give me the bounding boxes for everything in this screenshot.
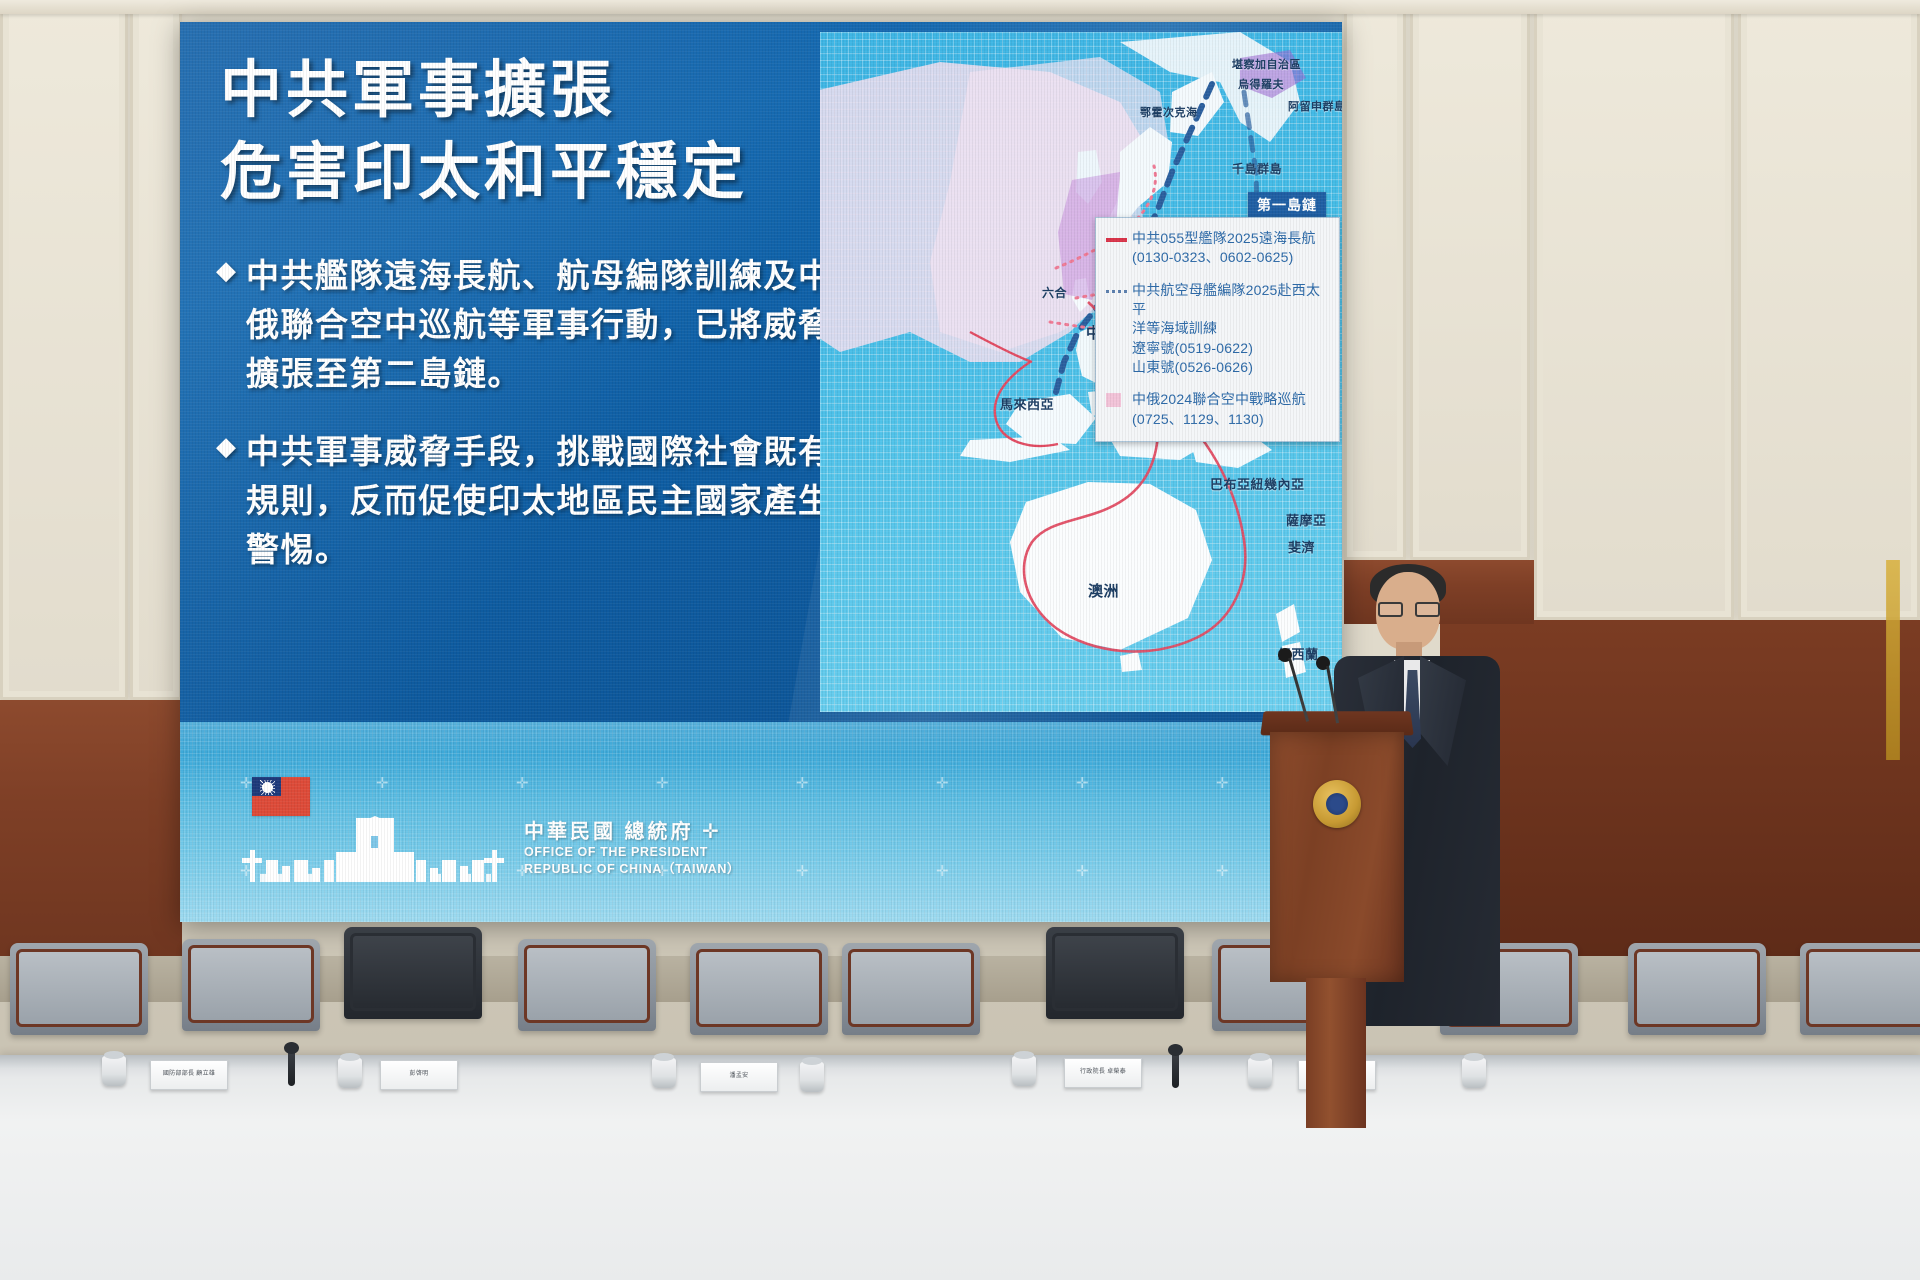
speaker-glasses-icon <box>1378 602 1440 617</box>
legend-text-055-fleet: 中共055型艦隊2025遠海長航 (0130-0323、0602-0625) <box>1132 229 1316 268</box>
map-label-kamchatka: 堪察加自治區 <box>1232 56 1301 72</box>
logo-english-line-1: OFFICE OF THE PRESIDENT <box>524 844 740 861</box>
bullet-text-2: 中共軍事威脅手段，挑戰國際社會既有規則，反而促使印太地區民主國家產生警惕。 <box>246 428 836 574</box>
chair <box>10 943 148 1035</box>
title-line-2: 危害印太和平穩定 <box>220 132 860 214</box>
diamond-bullet-icon: ◆ <box>216 428 236 574</box>
legend-line: 中俄2024聯合空中戰略巡航 <box>1132 390 1306 409</box>
first-island-chain-tag: 第一島鏈 <box>1248 192 1326 219</box>
nameplate-text: 行政院長 卓榮泰 <box>1080 1069 1126 1077</box>
teacup <box>102 1056 126 1086</box>
legend-swatch-pink-box-icon <box>1106 390 1128 407</box>
legend-line: (0130-0323、0602-0625) <box>1132 248 1316 267</box>
legend-swatch-solid-red-line-icon <box>1106 229 1128 242</box>
map-label-australia: 澳洲 <box>1088 580 1119 601</box>
map-label-aleutian: 阿留申群島 <box>1288 98 1342 114</box>
map-label-liuhe: 六合 <box>1042 284 1067 301</box>
teacup <box>338 1058 362 1088</box>
bullet-list: ◆ 中共艦隊遠海長航、航母編隊訓練及中俄聯合空中巡航等軍事行動，已將威脅擴張至第… <box>216 252 836 605</box>
legend-text-carrier-group: 中共航空母艦編隊2025赴西太平 洋等海域訓練 遼寧號(0519-0622) 山… <box>1132 281 1328 378</box>
legend-line: 山東號(0526-0626) <box>1132 358 1328 377</box>
logo-chinese-name: 中華民國 總統府 ✛ <box>524 815 740 844</box>
presidential-palace-icon <box>240 816 510 882</box>
wall-panel-left-2 <box>130 0 182 700</box>
national-emblem-icon <box>1313 780 1361 828</box>
wall-panel-right-3 <box>1534 0 1734 620</box>
presidential-office-logo: 中華民國 總統府 ✛ OFFICE OF THE PRESIDENT REPUB… <box>240 777 740 882</box>
map-label-png: 巴布亞紐幾內亞 <box>1210 474 1305 493</box>
nameplate: 行政院長 卓榮泰 <box>1064 1058 1142 1088</box>
podium <box>1262 710 1412 1130</box>
map-label-fiji: 斐濟 <box>1288 537 1315 556</box>
map-label-kuril: 千島群島 <box>1232 160 1282 177</box>
cross-marker-icon: ✛ <box>1216 774 1229 792</box>
legend-item-055-fleet: 中共055型艦隊2025遠海長航 (0130-0323、0602-0625) <box>1106 229 1328 268</box>
bullet-item-2: ◆ 中共軍事威脅手段，挑戰國際社會既有規則，反而促使印太地區民主國家產生警惕。 <box>216 428 836 574</box>
podium-body <box>1270 732 1404 982</box>
legend-swatch-dotted-line-icon <box>1106 281 1128 293</box>
wall-panel-right-2 <box>1410 0 1530 560</box>
microphone-arm <box>1288 658 1309 722</box>
cross-marker-icon: ✛ <box>796 862 809 880</box>
chair <box>1628 943 1766 1035</box>
white-sun-disc-icon <box>262 782 273 793</box>
map-legend: 中共055型艦隊2025遠海長航 (0130-0323、0602-0625) 中… <box>1095 217 1340 442</box>
teacup <box>652 1058 676 1088</box>
roc-flag-icon <box>252 777 310 816</box>
logo-mark <box>240 777 510 882</box>
logo-text-block: 中華民國 總統府 ✛ OFFICE OF THE PRESIDENT REPUB… <box>524 815 740 882</box>
wall-trim-top <box>0 0 1920 14</box>
bullet-item-1: ◆ 中共艦隊遠海長航、航母編隊訓練及中俄聯合空中巡航等軍事行動，已將威脅擴張至第… <box>216 252 836 398</box>
chair <box>182 939 320 1031</box>
chair <box>344 927 482 1019</box>
legend-line: 遼寧號(0519-0622) <box>1132 339 1328 358</box>
map-label-urup: 烏得羅夫 <box>1238 76 1284 92</box>
nameplate-text: 彭啓明 <box>410 1071 429 1079</box>
cross-marker-icon: ✛ <box>936 774 949 792</box>
nameplate: 國防部部長 顧立雄 <box>150 1060 228 1090</box>
teacup <box>1012 1056 1036 1086</box>
nameplate-text: 國防部部長 顧立雄 <box>163 1071 215 1079</box>
title-line-1: 中共軍事擴張 <box>220 50 860 132</box>
chair <box>1800 943 1920 1035</box>
cross-marker-icon: ✛ <box>796 774 809 792</box>
cross-marker-icon: ✛ <box>1216 862 1229 880</box>
wall-panel-right-1 <box>1344 0 1406 560</box>
microphone-arm <box>1326 666 1339 724</box>
legend-item-carrier-group: 中共航空母艦編隊2025赴西太平 洋等海域訓練 遼寧號(0519-0622) 山… <box>1106 281 1328 378</box>
table-microphone <box>1172 1052 1179 1088</box>
podium-microphone-right <box>1316 656 1376 736</box>
map-label-malaysia: 馬來西亞 <box>1000 394 1054 413</box>
teacup <box>800 1062 824 1092</box>
legend-line: 中共航空母艦編隊2025赴西太平 <box>1132 281 1328 320</box>
bullet-text-1: 中共艦隊遠海長航、航母編隊訓練及中俄聯合空中巡航等軍事行動，已將威脅擴張至第二島… <box>246 252 836 398</box>
wall-panel-right-4 <box>1738 0 1920 620</box>
legend-text-joint-patrol: 中俄2024聯合空中戰略巡航 (0725、1129、1130) <box>1132 390 1306 429</box>
nameplate-text: 潘孟安 <box>730 1073 749 1081</box>
map-label-samoa: 薩摩亞 <box>1286 510 1327 529</box>
legend-item-joint-patrol: 中俄2024聯合空中戰略巡航 (0725、1129、1130) <box>1106 390 1328 429</box>
chair <box>1046 927 1184 1019</box>
wall-panel-left <box>0 0 128 700</box>
teacup <box>1462 1058 1486 1088</box>
nameplate: 彭啓明 <box>380 1060 458 1090</box>
podium-stem <box>1306 978 1366 1128</box>
legend-line: 洋等海域訓練 <box>1132 319 1328 338</box>
cross-marker-icon: ✛ <box>936 862 949 880</box>
conference-room-background: 中共軍事擴張 危害印太和平穩定 ◆ 中共艦隊遠海長航、航母編隊訓練及中俄聯合空中… <box>0 0 1920 1280</box>
legend-line: (0725、1129、1130) <box>1132 410 1306 429</box>
logo-english-line-2: REPUBLIC OF CHINA（TAIWAN） <box>524 861 740 878</box>
conference-table <box>0 1055 1920 1280</box>
cross-marker-icon: ✛ <box>1076 774 1089 792</box>
page-title: 中共軍事擴張 危害印太和平穩定 <box>220 50 860 215</box>
diamond-bullet-icon: ◆ <box>216 252 236 398</box>
cross-marker-icon: ✛ <box>1076 862 1089 880</box>
legend-line: 中共055型艦隊2025遠海長航 <box>1132 229 1316 248</box>
chair <box>842 943 980 1035</box>
chair <box>690 943 828 1035</box>
table-microphone <box>288 1050 295 1086</box>
wood-wainscot-left <box>0 700 182 960</box>
nameplate: 潘孟安 <box>700 1062 778 1092</box>
sea-band-footer: ✛ ✛ ✛ ✛ ✛ ✛ ✛ ✛ ✛ ✛ ✛ ✛ ✛ ✛ ✛ ✛ <box>180 722 1342 922</box>
chair <box>518 939 656 1031</box>
map-label-okhotsk-sea: 鄂霍次克海 <box>1140 104 1198 120</box>
presentation-backdrop-board: 中共軍事擴張 危害印太和平穩定 ◆ 中共艦隊遠海長航、航母編隊訓練及中俄聯合空中… <box>180 22 1342 922</box>
